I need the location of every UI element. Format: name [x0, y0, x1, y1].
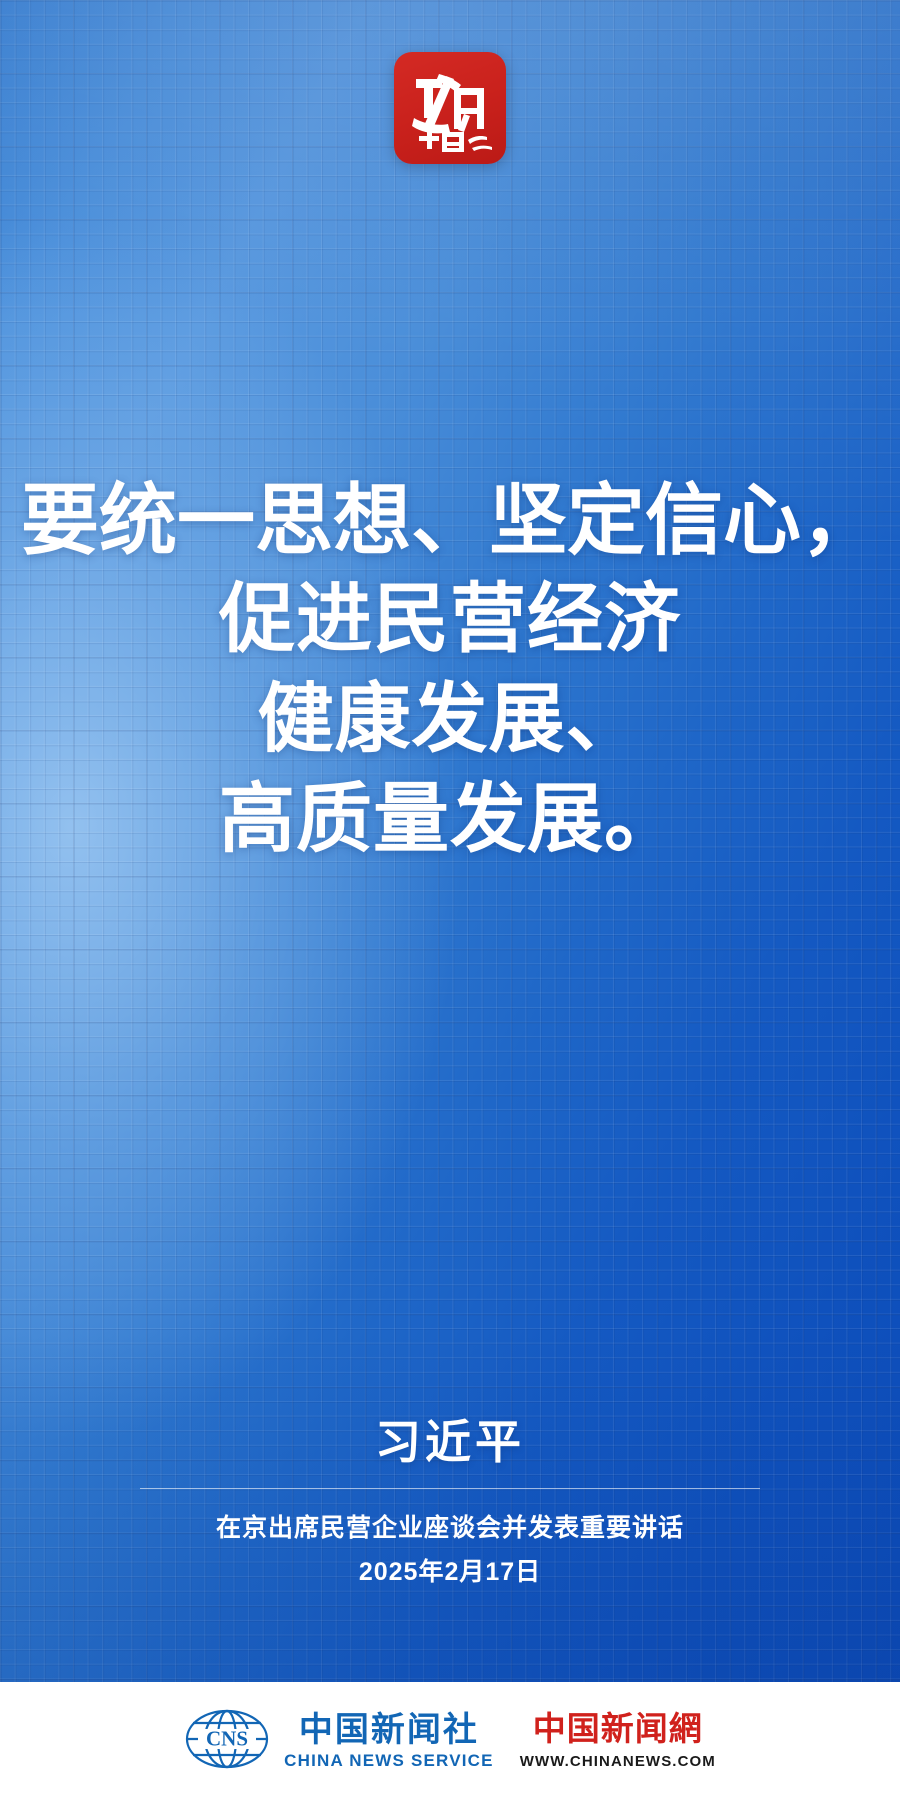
brand-logo — [394, 52, 506, 164]
cns-globe-icon: CNS — [184, 1707, 270, 1776]
jinguan-zhongguo-logo-icon — [394, 52, 506, 164]
headline-line-4: 高质量发展。 — [14, 770, 886, 870]
footer-bar: CNS 中国新闻社 CHINA NEWS SERVICE 中国新闻網 WWW.C… — [0, 1682, 900, 1800]
headline: 要统一思想、坚定信心， 促进民营经济 健康发展、 高质量发展。 — [0, 470, 900, 870]
date-text: 2025年2月17日 — [140, 1553, 760, 1591]
site-name-cn: 中国新闻網 — [533, 1711, 703, 1749]
agency-name-en: CHINA NEWS SERVICE — [284, 1751, 494, 1771]
poster-content: 要统一思想、坚定信心， 促进民营经济 健康发展、 高质量发展。 习近平 在京出席… — [0, 0, 900, 1800]
site-url: WWW.CHINANEWS.COM — [520, 1752, 716, 1772]
attribution-block: 习近平 在京出席民营企业座谈会并发表重要讲话 2025年2月17日 — [140, 1412, 760, 1591]
footer-logos: CNS 中国新闻社 CHINA NEWS SERVICE 中国新闻網 WWW.C… — [184, 1707, 716, 1776]
occasion-text: 在京出席民营企业座谈会并发表重要讲话 — [140, 1509, 760, 1547]
attribution-divider — [140, 1488, 760, 1489]
agency-logo-text: 中国新闻社 CHINA NEWS SERVICE — [284, 1712, 494, 1771]
cns-monogram: CNS — [206, 1726, 248, 1750]
speaker-name: 习近平 — [140, 1412, 760, 1472]
site-logo-text: 中国新闻網 WWW.CHINANEWS.COM — [520, 1711, 716, 1772]
agency-name-cn: 中国新闻社 — [299, 1712, 479, 1750]
poster-root: 要统一思想、坚定信心， 促进民营经济 健康发展、 高质量发展。 习近平 在京出席… — [0, 0, 900, 1800]
headline-line-1: 要统一思想、坚定信心， — [14, 470, 886, 570]
headline-line-3: 健康发展、 — [14, 670, 886, 770]
headline-line-2: 促进民营经济 — [14, 570, 886, 670]
